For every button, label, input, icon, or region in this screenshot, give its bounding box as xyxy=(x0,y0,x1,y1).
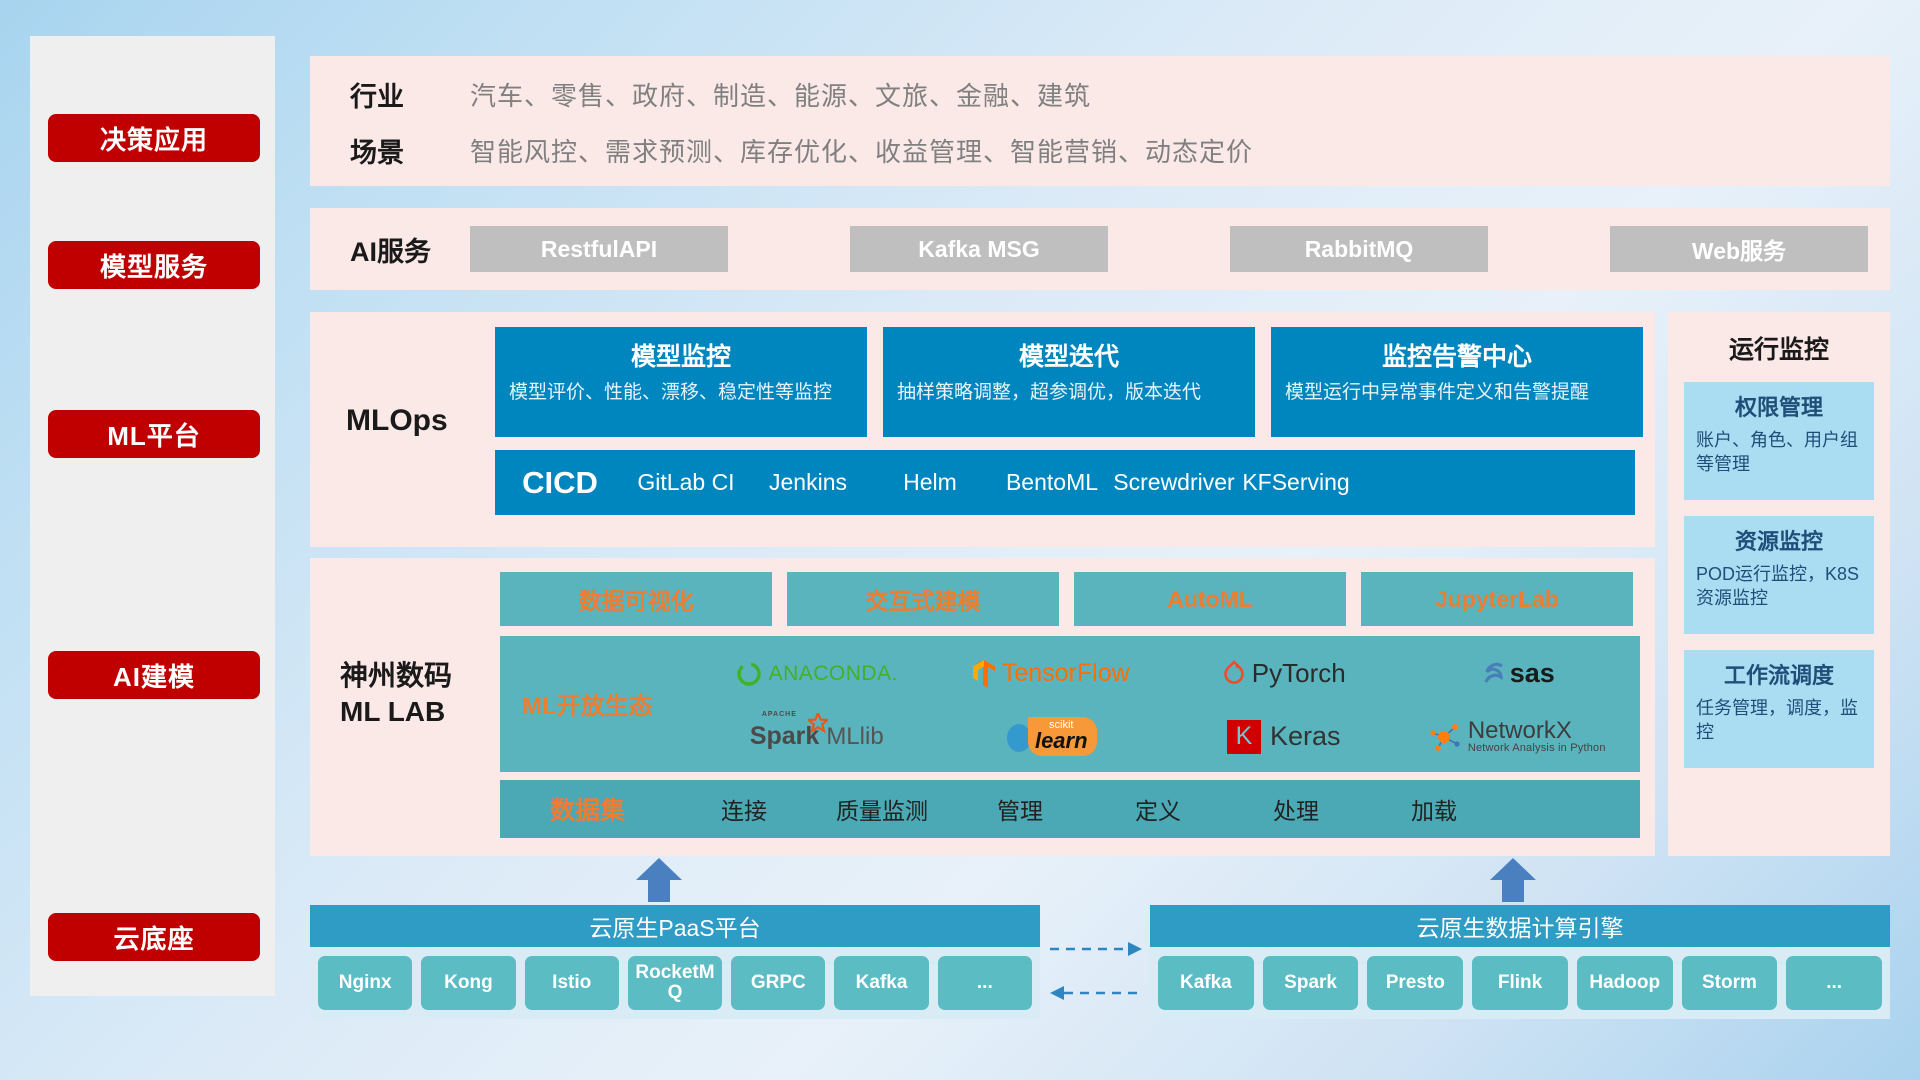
service-chip-rabbitmq[interactable]: RabbitMQ xyxy=(1230,226,1488,272)
card-desc: 模型运行中异常事件定义和告警提醒 xyxy=(1285,380,1629,405)
card-desc: 抽样策略调整，超参调优，版本迭代 xyxy=(897,380,1241,405)
dataset-item-manage[interactable]: 管理 xyxy=(951,792,1089,826)
scikit-orange-blob: scikit learn xyxy=(1028,717,1097,756)
industry-row: 行业 汽车、零售、政府、制造、能源、文旅、金融、建筑 xyxy=(310,66,1890,122)
scenario-values: 智能风控、需求预测、库存优化、收益管理、智能营销、动态定价 xyxy=(470,132,1253,169)
industry-label: 行业 xyxy=(350,75,470,114)
ml-open-ecosystem-label: ML开放生态 xyxy=(522,686,653,721)
mlops-card-model-iteration[interactable]: 模型迭代 抽样策略调整，超参调优，版本迭代 xyxy=(883,327,1255,437)
ai-service-panel: AI服务 RestfulAPI Kafka MSG RabbitMQ Web服务 xyxy=(310,208,1890,290)
sas-mark-icon xyxy=(1480,660,1508,688)
card-desc: 账户、角色、用户组等管理 xyxy=(1696,428,1862,476)
up-arrow-paas-icon xyxy=(636,858,682,902)
pytorch-flame-icon xyxy=(1222,660,1246,688)
ml-lab-tab-group: 数据可视化 交互式建模 AutoML JupyterLab xyxy=(500,572,1633,626)
lab-tab-data-visualization[interactable]: 数据可视化 xyxy=(500,572,772,626)
card-title: 监控告警中心 xyxy=(1285,337,1629,373)
cloud-native-paas-title: 云原生PaaS平台 xyxy=(310,905,1040,947)
mlops-card-model-monitor[interactable]: 模型监控 模型评价、性能、漂移、稳定性等监控 xyxy=(495,327,867,437)
ml-open-ecosystem-box: ML开放生态 ANACONDA. TensorFlow xyxy=(500,636,1640,772)
cicd-bar: CICD GitLab CI Jenkins Helm BentoML Scre… xyxy=(495,450,1635,515)
cicd-item-helm[interactable]: Helm xyxy=(869,471,991,494)
keras-logo: K Keras xyxy=(1227,720,1341,754)
runtime-monitor-panel: 运行监控 权限管理 账户、角色、用户组等管理 资源监控 POD运行监控，K8S资… xyxy=(1668,312,1890,856)
ecosystem-logo-grid: ANACONDA. TensorFlow PyTorch xyxy=(700,642,1634,768)
runtime-monitor-title: 运行监控 xyxy=(1668,312,1890,366)
dataset-label: 数据集 xyxy=(500,791,675,827)
pytorch-logo: PyTorch xyxy=(1222,658,1346,689)
ml-lab-label-line2: ML LAB xyxy=(340,694,500,730)
cicd-item-jenkins[interactable]: Jenkins xyxy=(747,471,869,494)
engine-chip-presto[interactable]: Presto xyxy=(1367,956,1463,1010)
cloud-native-data-engine-title: 云原生数据计算引擎 xyxy=(1150,905,1890,947)
dataset-item-quality-monitoring[interactable]: 质量监测 xyxy=(813,792,951,826)
networkx-tagline: Network Analysis in Python xyxy=(1468,743,1606,754)
cloud-native-paas-group: 云原生PaaS平台 Nginx Kong Istio RocketMQ GRPC… xyxy=(310,905,1040,1019)
engine-chip-spark[interactable]: Spark xyxy=(1263,956,1359,1010)
scikit-learn-logo: scikit learn xyxy=(1004,717,1097,757)
dataset-item-connect[interactable]: 连接 xyxy=(675,792,813,826)
layer-chip-ml-platform[interactable]: ML平台 xyxy=(48,410,260,458)
card-title: 工作流调度 xyxy=(1696,658,1862,690)
keras-mark-icon: K xyxy=(1227,720,1261,754)
dataset-bar: 数据集 连接 质量监测 管理 定义 处理 加载 xyxy=(500,780,1640,838)
cloud-native-paas-chip-tray: Nginx Kong Istio RocketMQ GRPC Kafka ... xyxy=(310,947,1040,1019)
spark-wordmark: Spark APACHE xyxy=(750,722,819,751)
service-chip-kafka-msg[interactable]: Kafka MSG xyxy=(850,226,1108,272)
tensorflow-logo: TensorFlow xyxy=(971,659,1130,689)
networkx-graph-icon xyxy=(1429,721,1463,753)
learn-wordmark: learn xyxy=(1035,731,1088,752)
card-title: 模型迭代 xyxy=(897,337,1241,373)
anaconda-mark-icon xyxy=(736,661,762,687)
paas-chip-grpc[interactable]: GRPC xyxy=(731,956,825,1010)
dataset-item-process[interactable]: 处理 xyxy=(1227,792,1365,826)
dataset-item-load[interactable]: 加载 xyxy=(1365,792,1503,826)
paas-chip-nginx[interactable]: Nginx xyxy=(318,956,412,1010)
ai-service-label: AI服务 xyxy=(350,230,470,269)
cicd-item-bentoml[interactable]: BentoML xyxy=(991,471,1113,494)
apache-supertext: APACHE xyxy=(762,711,797,718)
networkx-wordmark: NetworkX xyxy=(1468,719,1606,743)
engine-chip-hadoop[interactable]: Hadoop xyxy=(1577,956,1673,1010)
paas-chip-more[interactable]: ... xyxy=(938,956,1032,1010)
paas-chip-istio[interactable]: Istio xyxy=(525,956,619,1010)
cicd-item-gitlab-ci[interactable]: GitLab CI xyxy=(625,471,747,494)
engine-chip-kafka[interactable]: Kafka xyxy=(1158,956,1254,1010)
ai-service-chip-strip: RestfulAPI Kafka MSG RabbitMQ Web服务 xyxy=(470,226,1868,272)
anaconda-wordmark: ANACONDA. xyxy=(769,662,898,686)
card-title: 模型监控 xyxy=(509,337,853,373)
mlops-label: MLOps xyxy=(346,404,501,438)
mlops-card-alert-center[interactable]: 监控告警中心 模型运行中异常事件定义和告警提醒 xyxy=(1271,327,1643,437)
cicd-item-kfserving[interactable]: KFServing xyxy=(1235,471,1357,494)
monitor-card-workflow[interactable]: 工作流调度 任务管理，调度，监控 xyxy=(1684,650,1874,768)
paas-chip-kong[interactable]: Kong xyxy=(421,956,515,1010)
card-title: 资源监控 xyxy=(1696,524,1862,556)
mlops-card-group: 模型监控 模型评价、性能、漂移、稳定性等监控 模型迭代 抽样策略调整，超参调优，… xyxy=(495,327,1643,437)
engine-chip-more[interactable]: ... xyxy=(1786,956,1882,1010)
cloud-native-data-engine-group: 云原生数据计算引擎 Kafka Spark Presto Flink Hadoo… xyxy=(1150,905,1890,1019)
engine-chip-storm[interactable]: Storm xyxy=(1682,956,1778,1010)
keras-wordmark: Keras xyxy=(1270,721,1341,752)
ml-lab-panel: 神州数码 ML LAB 数据可视化 交互式建模 AutoML JupyterLa… xyxy=(310,558,1655,856)
layer-chip-cloud-base[interactable]: 云底座 xyxy=(48,913,260,961)
layer-chip-ai-modeling[interactable]: AI建模 xyxy=(48,651,260,699)
industry-values: 汽车、零售、政府、制造、能源、文旅、金融、建筑 xyxy=(470,76,1091,113)
networkx-logo: NetworkX Network Analysis in Python xyxy=(1429,719,1606,754)
tensorflow-mark-icon xyxy=(971,659,997,689)
up-arrow-data-engine-icon xyxy=(1490,858,1536,902)
dataset-item-define[interactable]: 定义 xyxy=(1089,792,1227,826)
mlops-panel: MLOps 模型监控 模型评价、性能、漂移、稳定性等监控 模型迭代 抽样策略调整… xyxy=(310,312,1655,547)
ml-lab-label-line1: 神州数码 xyxy=(340,658,500,694)
scenario-row: 场景 智能风控、需求预测、库存优化、收益管理、智能营销、动态定价 xyxy=(310,122,1890,178)
sas-logo: sas xyxy=(1480,658,1555,689)
cicd-item-screwdriver[interactable]: Screwdriver xyxy=(1113,471,1235,494)
monitor-card-resource[interactable]: 资源监控 POD运行监控，K8S资源监控 xyxy=(1684,516,1874,634)
anaconda-logo: ANACONDA. xyxy=(736,661,898,687)
lab-tab-automl[interactable]: AutoML xyxy=(1074,572,1346,626)
spark-star-icon xyxy=(808,713,828,733)
card-desc: POD运行监控，K8S资源监控 xyxy=(1696,562,1862,610)
layer-chip-model-service[interactable]: 模型服务 xyxy=(48,241,260,289)
monitor-card-permission[interactable]: 权限管理 账户、角色、用户组等管理 xyxy=(1684,382,1874,500)
layer-chip-decision[interactable]: 决策应用 xyxy=(48,114,260,162)
mllib-wordmark: MLlib xyxy=(826,723,883,751)
scenario-label: 场景 xyxy=(350,131,470,170)
service-chip-restfulapi[interactable]: RestfulAPI xyxy=(470,226,728,272)
paas-chip-kafka[interactable]: Kafka xyxy=(834,956,928,1010)
sas-wordmark: sas xyxy=(1510,658,1555,689)
lab-tab-interactive-modeling[interactable]: 交互式建模 xyxy=(787,572,1059,626)
card-title: 权限管理 xyxy=(1696,390,1862,422)
engine-chip-flink[interactable]: Flink xyxy=(1472,956,1568,1010)
card-desc: 模型评价、性能、漂移、稳定性等监控 xyxy=(509,380,853,405)
lab-tab-jupyterlab[interactable]: JupyterLab xyxy=(1361,572,1633,626)
tensorflow-wordmark: TensorFlow xyxy=(1002,659,1130,688)
card-desc: 任务管理，调度，监控 xyxy=(1696,696,1862,744)
layer-rail: 决策应用 模型服务 ML平台 AI建模 云底座 xyxy=(30,36,275,996)
cloud-native-data-engine-chip-tray: Kafka Spark Presto Flink Hadoop Storm ..… xyxy=(1150,947,1890,1019)
spark-mllib-logo: Spark APACHE MLlib xyxy=(750,722,884,751)
bidirectional-link-arrows-icon xyxy=(1048,935,1144,1007)
paas-chip-rocketmq[interactable]: RocketMQ xyxy=(628,956,722,1010)
ml-lab-label: 神州数码 ML LAB xyxy=(340,658,500,731)
decision-application-panel: 行业 汽车、零售、政府、制造、能源、文旅、金融、建筑 场景 智能风控、需求预测、… xyxy=(310,56,1890,186)
pytorch-wordmark: PyTorch xyxy=(1252,658,1346,689)
cicd-label: CICD xyxy=(495,465,625,501)
service-chip-web[interactable]: Web服务 xyxy=(1610,226,1868,272)
